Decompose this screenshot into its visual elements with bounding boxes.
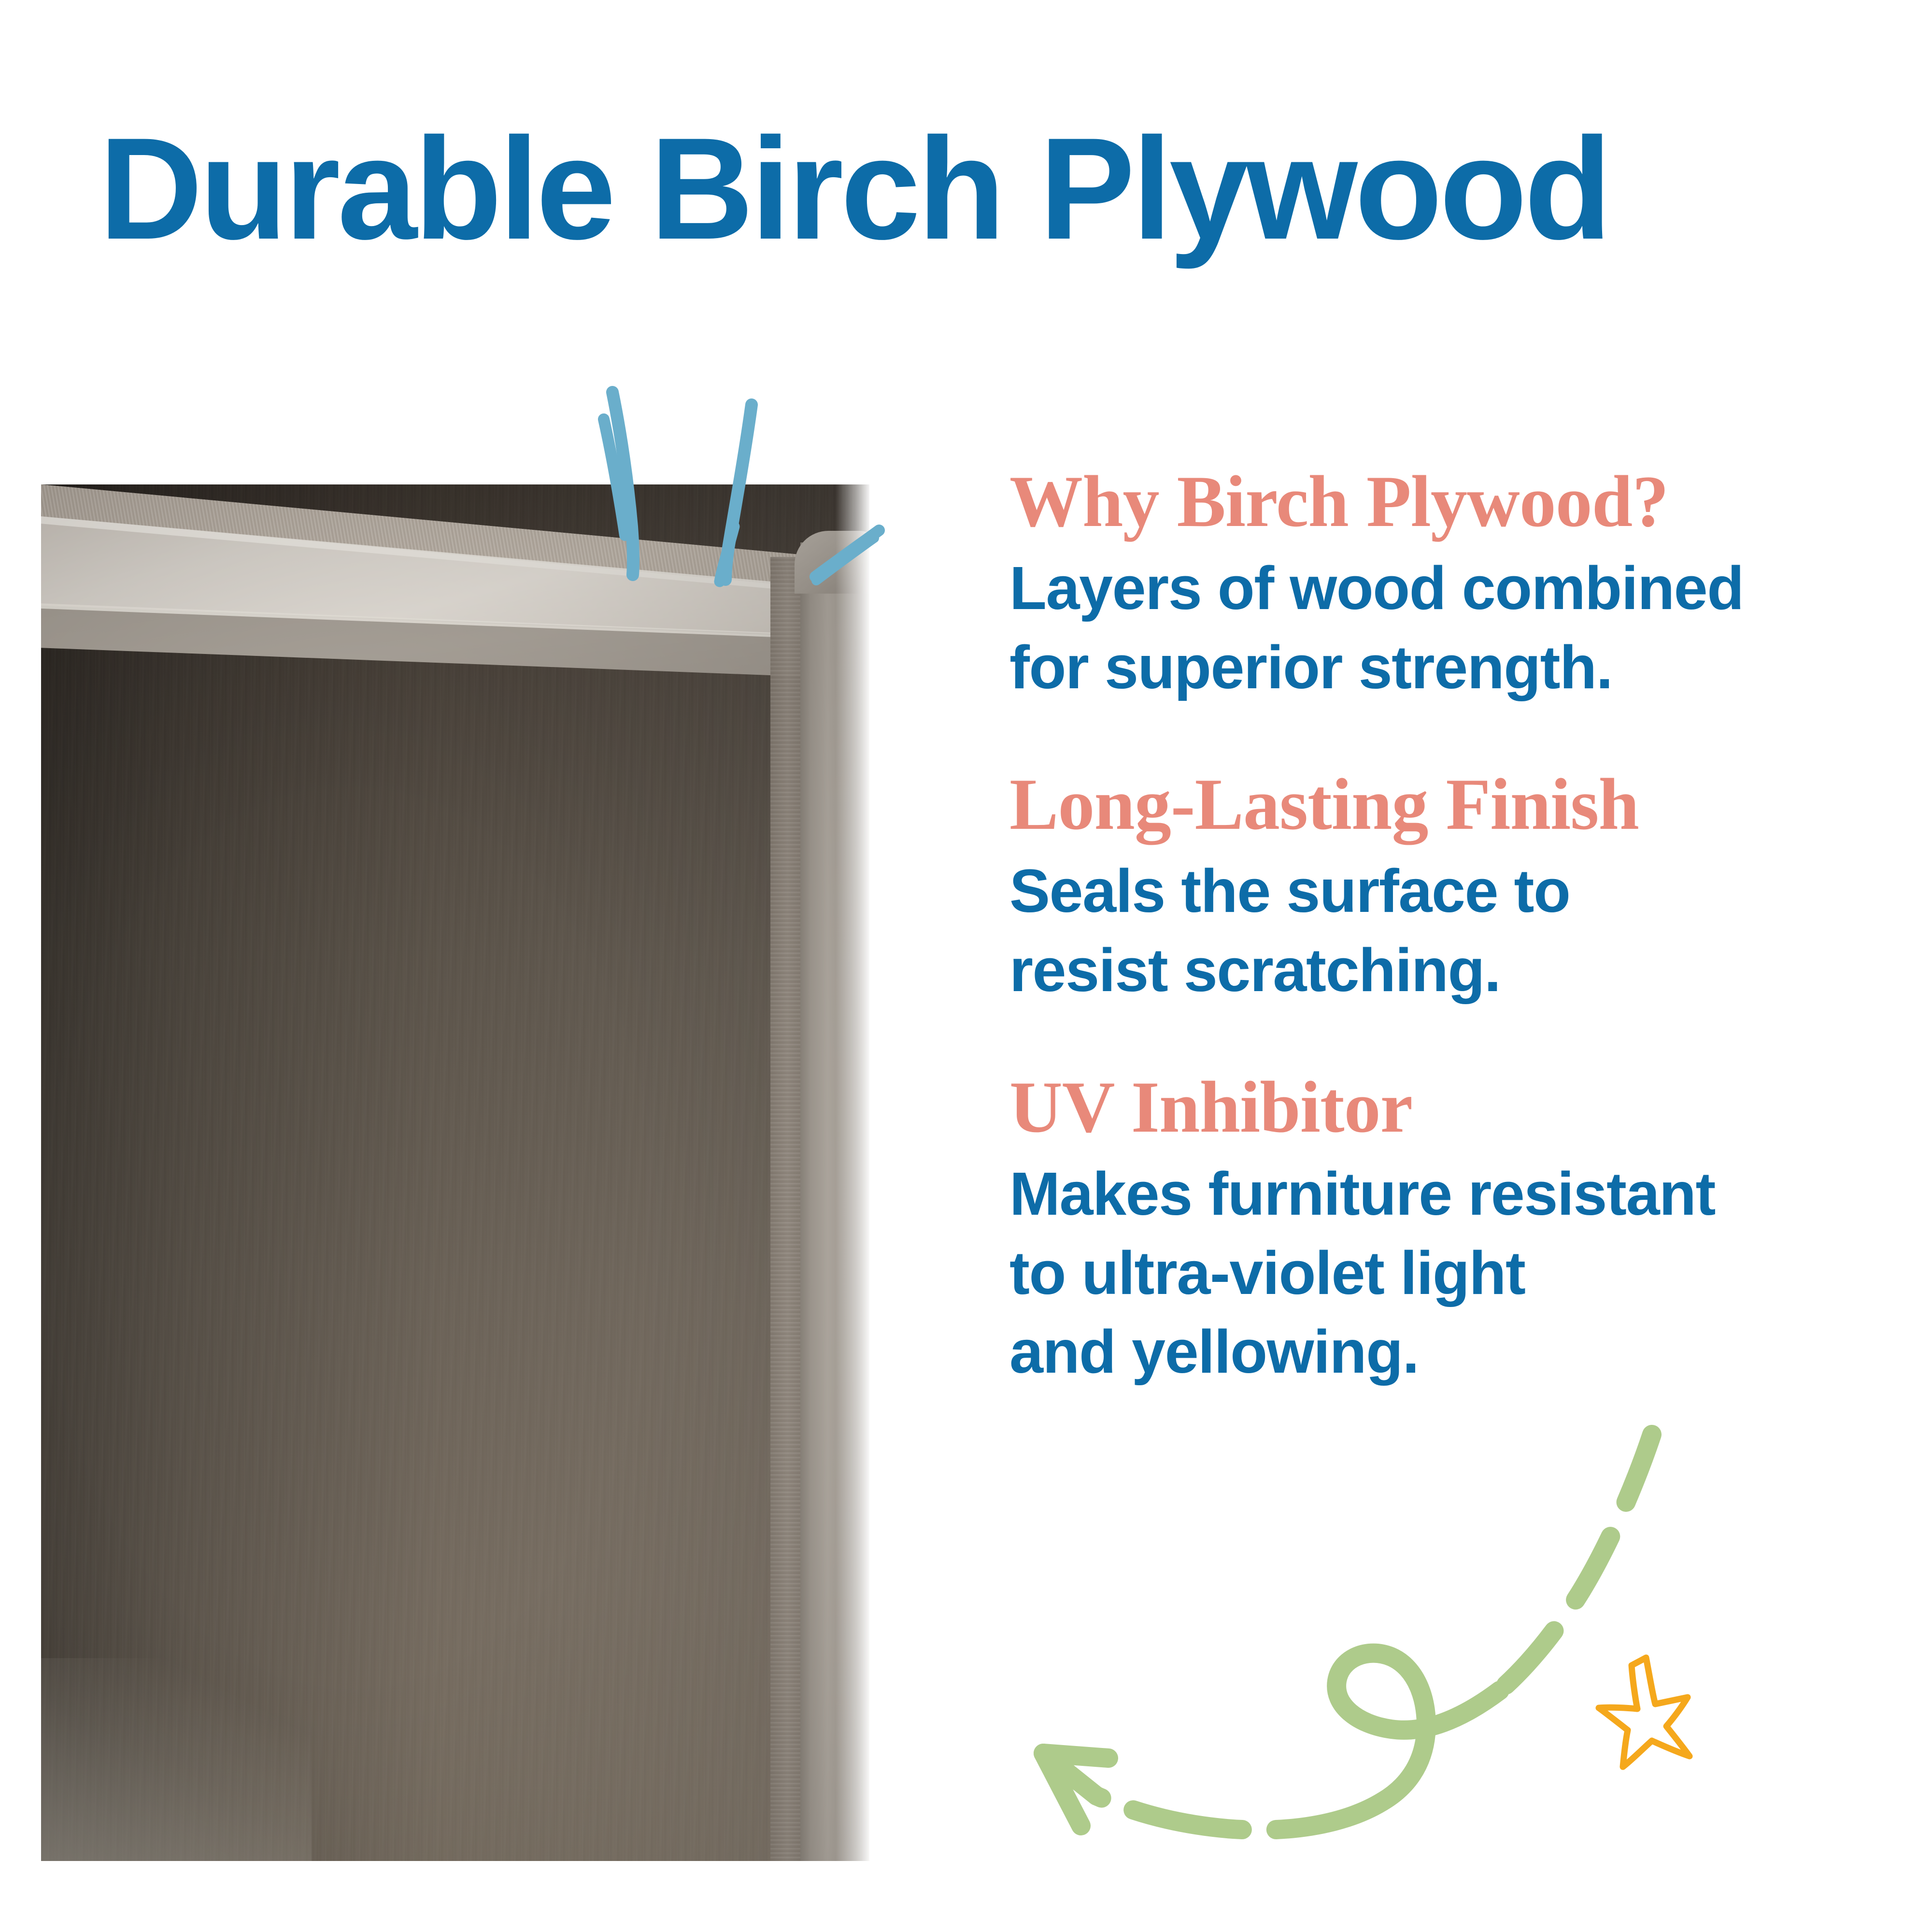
photo-vignette <box>41 484 869 1861</box>
sparkle-strokes-icon <box>575 382 923 594</box>
feature-item: Why Birch Plywood? Layers of wood combin… <box>1009 461 1893 707</box>
feature-list: Why Birch Plywood? Layers of wood combin… <box>1009 461 1893 1392</box>
feature-body-line: resist scratching. <box>1009 931 1893 1010</box>
product-photo <box>41 484 869 1861</box>
feature-heading: UV Inhibitor <box>1009 1067 1893 1148</box>
feature-body-line: Makes furniture resistant <box>1009 1154 1893 1234</box>
feature-heading: Long-Lasting Finish <box>1009 764 1893 845</box>
star-icon <box>1584 1628 1729 1773</box>
feature-body: Layers of wood combined for superior str… <box>1009 549 1893 707</box>
feature-body-line: and yellowing. <box>1009 1312 1893 1392</box>
feature-body-line: for superior strength. <box>1009 628 1893 707</box>
feature-item: Long-Lasting Finish Seals the surface to… <box>1009 764 1893 1010</box>
page-title: Durable Birch Plywood <box>99 116 1868 261</box>
photo-right-fade <box>836 484 869 1861</box>
feature-body-line: Layers of wood combined <box>1009 549 1893 628</box>
infographic-canvas: Durable Birch Plywood Why Birch Plywood? <box>0 0 1932 1932</box>
feature-item: UV Inhibitor Makes furniture resistant t… <box>1009 1067 1893 1392</box>
feature-body-line: Seals the surface to <box>1009 852 1893 931</box>
feature-body-line: to ultra-violet light <box>1009 1234 1893 1313</box>
feature-heading: Why Birch Plywood? <box>1009 461 1893 542</box>
feature-body: Seals the surface to resist scratching. <box>1009 852 1893 1010</box>
feature-body: Makes furniture resistant to ultra-viole… <box>1009 1154 1893 1392</box>
